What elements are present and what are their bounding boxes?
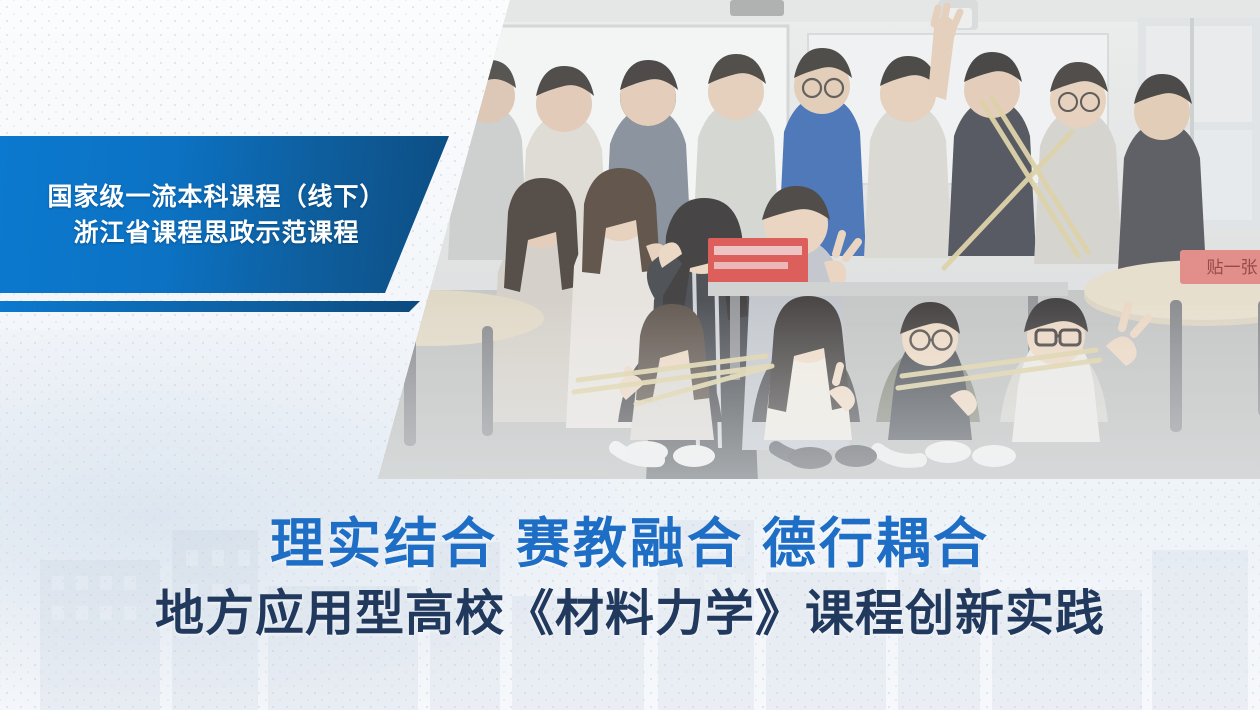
classroom-group-photo: 贴一张 (378, 0, 1260, 479)
banner-accent-bar (0, 301, 420, 312)
banner-line-2: 浙江省课程思政示范课程 (73, 215, 359, 251)
banner-line-1: 国家级一流本科课程（线下） (47, 179, 385, 215)
course-award-banner: 国家级一流本科课程（线下） 浙江省课程思政示范课程 (0, 136, 449, 293)
poster-canvas: 贴一张 (0, 0, 1260, 710)
headline-subtitle: 地方应用型高校《材料力学》课程创新实践 (0, 584, 1260, 644)
headline-main-title: 理实结合 赛教融合 德行耦合 (0, 512, 1260, 576)
classroom-photo-illustration: 贴一张 (378, 0, 1260, 479)
headline-block: 理实结合 赛教融合 德行耦合 地方应用型高校《材料力学》课程创新实践 (0, 512, 1260, 644)
